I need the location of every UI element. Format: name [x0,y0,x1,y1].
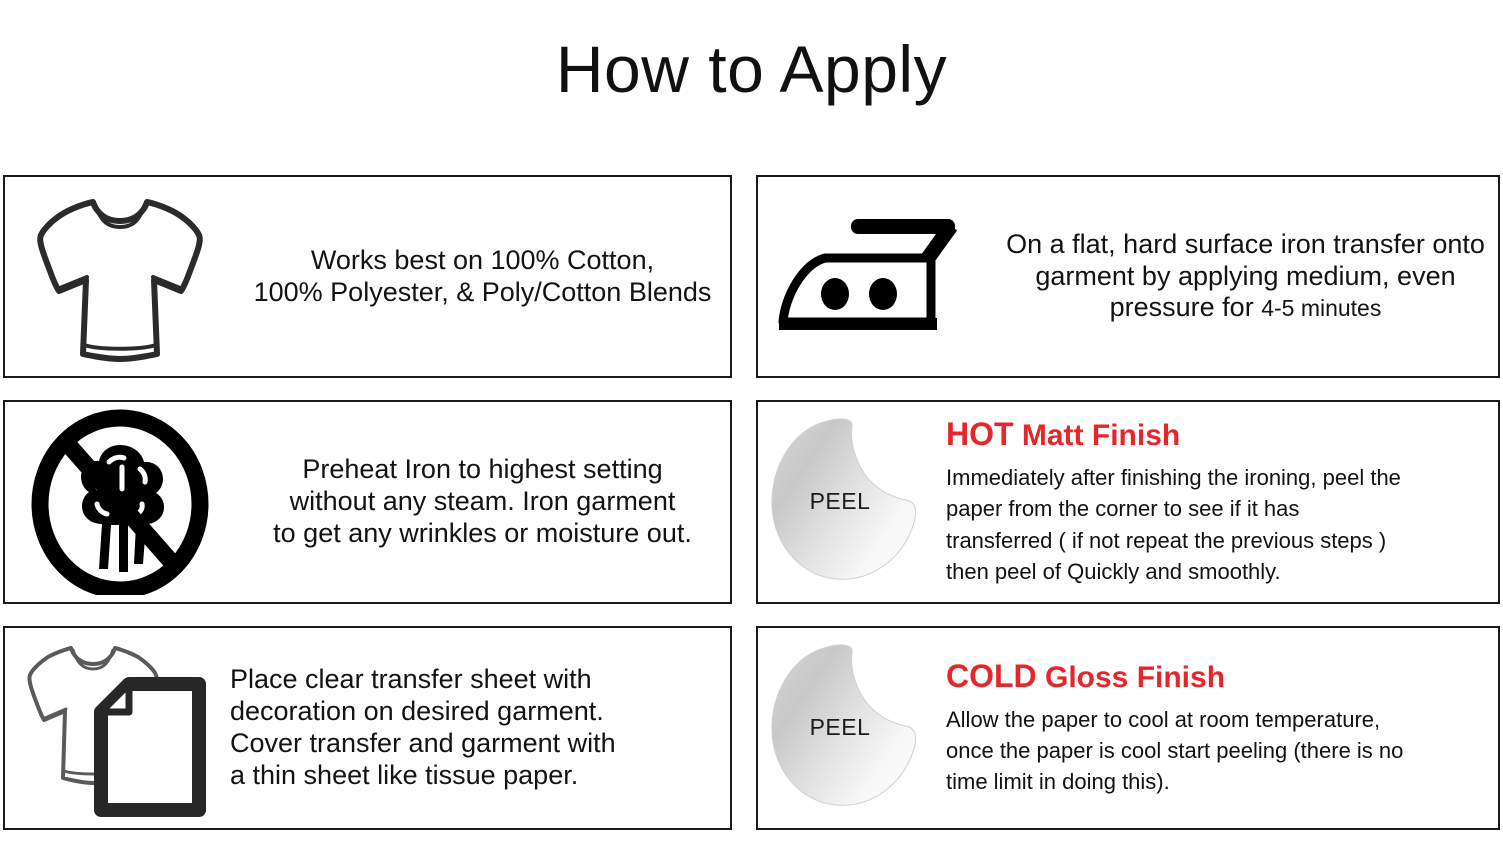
peel-icon [766,644,938,812]
cold-finish-line-2: once the paper is cool start peeling (th… [946,735,1498,766]
cold-finish-heading: COLD Gloss Finish [946,659,1498,694]
place-transfer-line-4: a thin sheet like tissue paper. [230,760,730,792]
cold-finish-line-1: Allow the paper to cool at room temperat… [946,704,1498,735]
peel-icon-wrap-cold: PEEL [766,644,938,812]
hot-finish-heading-lead: HOT [946,416,1014,452]
panel-place-transfer: Place clear transfer sheet with decorati… [3,626,732,830]
hot-finish-line-1: Immediately after finishing the ironing,… [946,462,1498,493]
panel-hot-peel: PEEL HOT Matt Finish Immediately after f… [756,400,1500,604]
panel-iron-line-3: pressure for 4-5 minutes [993,292,1498,324]
peel-icon [766,418,938,586]
cold-finish-line-3: time limit in doing this). [946,766,1498,797]
tshirt-icon [30,191,210,363]
panel-cold-peel-text: COLD Gloss Finish Allow the paper to coo… [946,659,1498,798]
no-steam-icon [30,409,210,595]
hot-finish-line-3: transferred ( if not repeat the previous… [946,525,1498,556]
panel-iron-line-2: garment by applying medium, even [993,261,1498,293]
panel-fabric-line-1: Works best on 100% Cotton, [235,245,730,277]
iron-icon [773,214,978,339]
panel-no-steam-text: Preheat Iron to highest setting without … [235,454,730,550]
cold-finish-heading-lead: COLD [946,658,1037,694]
no-steam-icon-cell [5,409,235,595]
hot-finish-heading-rest: Matt Finish [1014,419,1181,452]
panel-fabric: Works best on 100% Cotton, 100% Polyeste… [3,175,732,378]
place-transfer-line-3: Cover transfer and garment with [230,728,730,760]
panel-hot-peel-text: HOT Matt Finish Immediately after finish… [946,417,1498,587]
place-transfer-line-1: Place clear transfer sheet with [230,664,730,696]
panel-cold-peel: PEEL COLD Gloss Finish Allow the paper t… [756,626,1500,830]
panel-no-steam-line-2: without any steam. Iron garment [235,486,730,518]
panel-place-transfer-text: Place clear transfer sheet with decorati… [230,664,730,791]
instruction-panel-grid: Works best on 100% Cotton, 100% Polyeste… [3,175,1500,830]
tshirt-icon-cell [5,191,235,363]
hot-finish-heading: HOT Matt Finish [946,417,1498,452]
panel-iron-duration: 4-5 minutes [1261,295,1381,321]
hot-finish-line-4: then peel of Quickly and smoothly. [946,556,1498,587]
panel-iron-transfer-text: On a flat, hard surface iron transfer on… [993,229,1498,325]
panel-no-steam-line-1: Preheat Iron to highest setting [235,454,730,486]
page-title: How to Apply [0,36,1503,102]
tshirt-with-sheet-icon-cell [5,638,230,818]
cold-peel-icon-cell: PEEL [758,644,946,812]
hot-peel-icon-cell: PEEL [758,418,946,586]
peel-icon-wrap-hot: PEEL [766,418,938,586]
hot-finish-line-2: paper from the corner to see if it has [946,493,1498,524]
how-to-apply-infographic: How to Apply Works best on 10 [0,0,1503,850]
panel-no-steam: Preheat Iron to highest setting without … [3,400,732,604]
panel-no-steam-line-3: to get any wrinkles or moisture out. [235,518,730,550]
iron-icon-cell [758,214,993,339]
place-transfer-line-2: decoration on desired garment. [230,696,730,728]
panel-iron-line-1: On a flat, hard surface iron transfer on… [993,229,1498,261]
panel-iron-transfer: On a flat, hard surface iron transfer on… [756,175,1500,378]
panel-fabric-text: Works best on 100% Cotton, 100% Polyeste… [235,245,730,309]
panel-iron-line-3-prefix: pressure for [1110,292,1262,322]
panel-fabric-line-2: 100% Polyester, & Poly/Cotton Blends [235,277,730,309]
tshirt-with-sheet-icon [23,638,213,818]
cold-finish-heading-rest: Gloss Finish [1037,661,1225,694]
